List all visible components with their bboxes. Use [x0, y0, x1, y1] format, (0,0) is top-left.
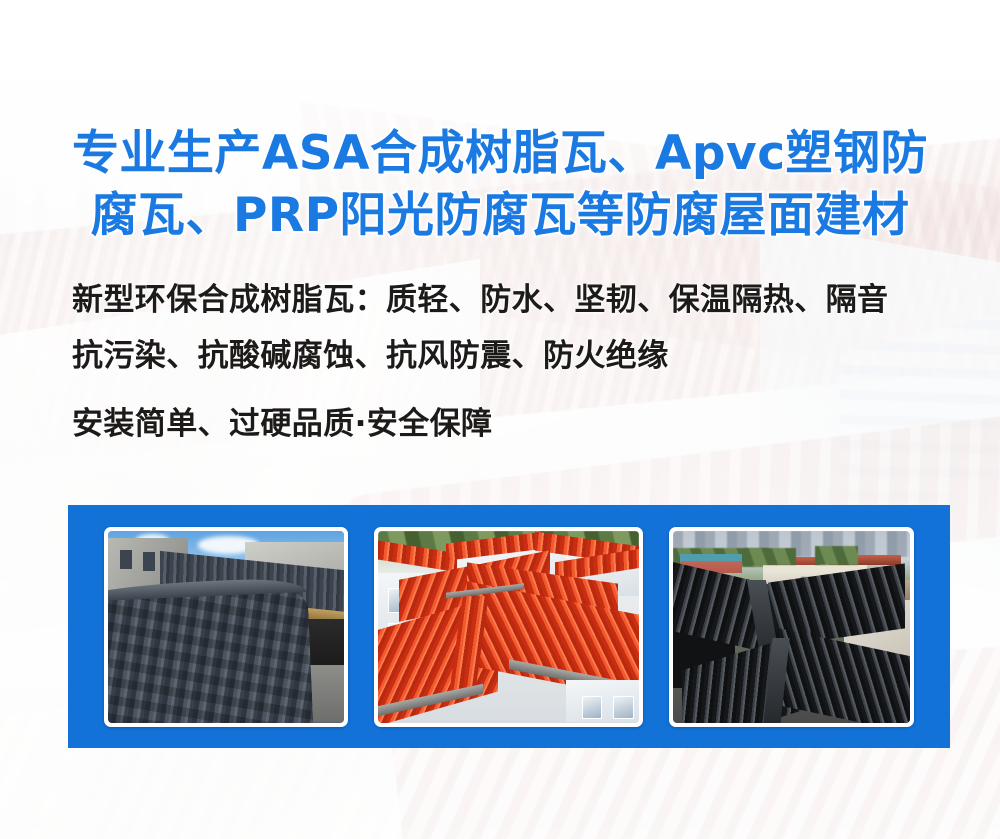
feature-list: 新型环保合成树脂瓦：质轻、防水、坚韧、保温隔热、隔音 抗污染、抗酸碱腐蚀、抗风防… [72, 272, 972, 452]
product-photo-gallery [68, 505, 950, 748]
page-headline: 专业生产ASA合成树脂瓦、Apvc塑钢防 腐瓦、PRP阳光防腐瓦等防腐屋面建材 [0, 123, 1000, 247]
gallery-photo-grey-tile-roof[interactable] [104, 527, 348, 727]
photo-image-black-tile-roof [673, 531, 910, 723]
feature-line-1: 新型环保合成树脂瓦：质轻、防水、坚韧、保温隔热、隔音 [72, 272, 972, 328]
promo-banner-page: 专业生产ASA合成树脂瓦、Apvc塑钢防 腐瓦、PRP阳光防腐瓦等防腐屋面建材 … [0, 0, 1000, 839]
feature-line-2: 抗污染、抗酸碱腐蚀、抗风防震、防火绝缘 [72, 328, 972, 384]
photo-image-red-tile-roof [378, 531, 639, 723]
photo-image-grey-tile-roof [108, 531, 344, 723]
gallery-photo-red-tile-roof[interactable] [374, 527, 643, 727]
feature-line-3: 安装简单、过硬品质·安全保障 [72, 396, 972, 452]
gallery-photo-black-tile-roof[interactable] [669, 527, 914, 727]
